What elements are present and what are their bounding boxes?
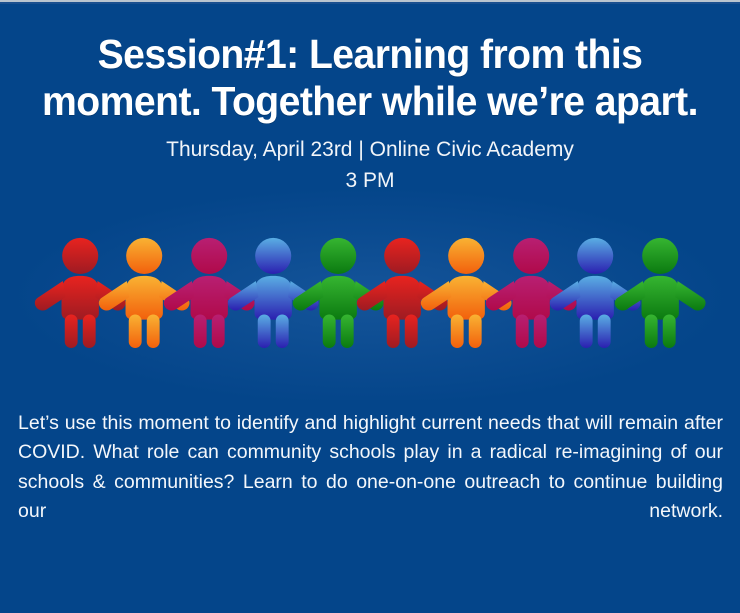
person-figure-red — [48, 236, 112, 348]
person-glyph — [628, 236, 692, 348]
person-figure-orange — [112, 236, 176, 348]
person-figure-red — [370, 236, 434, 348]
page-title: Session#1: Learning from this moment. To… — [28, 31, 712, 125]
person-glyph — [306, 236, 370, 348]
person-glyph — [563, 236, 627, 348]
person-glyph — [112, 236, 176, 348]
person-figure-blue — [563, 236, 627, 348]
body-description: Let’s use this moment to identify and hi… — [18, 409, 723, 557]
person-glyph — [499, 236, 563, 348]
person-figure-magenta — [499, 236, 563, 348]
person-glyph — [241, 236, 305, 348]
person-figure-blue — [241, 236, 305, 348]
person-figure-magenta — [177, 236, 241, 348]
event-details-line: Thursday, April 23rd | Online Civic Acad… — [20, 134, 720, 196]
person-glyph — [48, 236, 112, 348]
person-figure-orange — [434, 236, 498, 348]
person-glyph — [370, 236, 434, 348]
people-illustration — [48, 236, 692, 348]
person-glyph — [434, 236, 498, 348]
person-glyph — [177, 236, 241, 348]
event-flyer: Session#1: Learning from this moment. To… — [0, 0, 740, 613]
person-figure-green — [306, 236, 370, 348]
person-figure-green — [628, 236, 692, 348]
top-edge-strip-secondary — [0, 2, 740, 4]
